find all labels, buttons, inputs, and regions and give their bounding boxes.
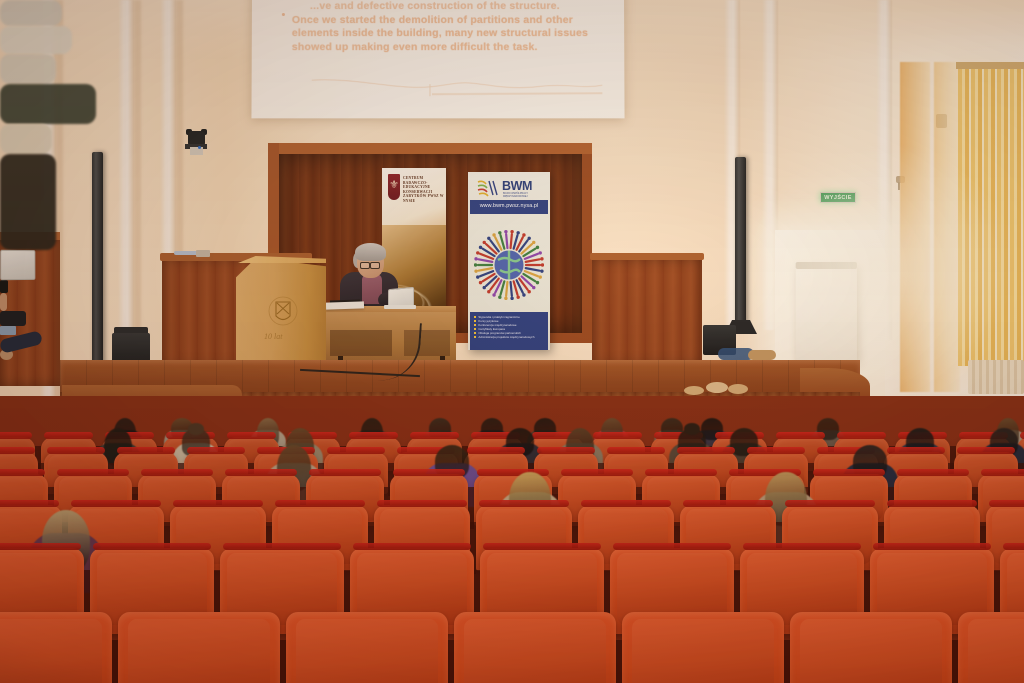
- audience-seat-cushion: [989, 500, 1024, 507]
- audience-seat-cushion: [897, 469, 969, 476]
- audience-seat[interactable]: [286, 612, 448, 683]
- audience-seat[interactable]: [958, 612, 1024, 683]
- audience-mobile-phone[interactable]: [0, 280, 8, 293]
- draped-clothing: [0, 26, 72, 54]
- audience-seat-cushion: [47, 447, 105, 454]
- audience-seat-cushion: [349, 432, 398, 439]
- audience-seat-cushion: [593, 432, 642, 439]
- audience-seat[interactable]: [0, 612, 112, 683]
- audience-person-bun: [188, 423, 203, 435]
- audience-seat-cushion: [141, 469, 213, 476]
- draped-clothing: [0, 0, 62, 26]
- audience-seat-cushion: [1020, 432, 1024, 439]
- audience-seat-cushion: [57, 469, 129, 476]
- audience-seat-cushion: [837, 432, 886, 439]
- audience-seat-cushion: [0, 447, 35, 454]
- audience-seat-cushion: [353, 543, 471, 550]
- audience-seat-cushion: [0, 500, 59, 507]
- photographer-camera[interactable]: [0, 311, 26, 326]
- audience-seat-cushion: [225, 469, 297, 476]
- audience-seat-cushion: [743, 543, 861, 550]
- audience-seat-cushion: [467, 447, 525, 454]
- audience-layer: [0, 0, 1024, 683]
- audience-seat-cushion: [813, 469, 885, 476]
- audience-seat-cushion: [393, 469, 465, 476]
- audience-person-bun: [684, 423, 699, 435]
- audience-seat-cushion: [275, 500, 365, 507]
- audience-seat[interactable]: [790, 612, 952, 683]
- photographer-camera-screen: [0, 326, 16, 335]
- audience-seat[interactable]: [622, 612, 784, 683]
- audience-seat-cushion: [683, 500, 773, 507]
- audience-seat-cushion: [887, 447, 945, 454]
- draped-clothing: [0, 54, 56, 84]
- audience-seat[interactable]: [118, 612, 280, 683]
- audience-seat-cushion: [327, 447, 385, 454]
- audience-seat-cushion: [187, 447, 245, 454]
- audience-seat-cushion: [873, 543, 991, 550]
- auditorium-photograph: ...ve and defective construction of the …: [0, 0, 1024, 683]
- audience-seat-cushion: [645, 469, 717, 476]
- audience-seat[interactable]: [454, 612, 616, 683]
- audience-seat-cushion: [677, 447, 735, 454]
- draped-clothing: [0, 124, 52, 154]
- audience-seat-cushion: [483, 543, 601, 550]
- audience-seat-cushion: [377, 500, 467, 507]
- audience-seat-cushion: [0, 469, 45, 476]
- audience-seat-cushion: [0, 432, 32, 439]
- audience-seat-cushion: [581, 500, 671, 507]
- audience-seat-cushion: [223, 543, 341, 550]
- audience-seat-cushion: [0, 543, 81, 550]
- audience-seat-cushion: [957, 447, 1015, 454]
- audience-laptop[interactable]: [0, 250, 35, 280]
- audience-seat-cushion: [537, 447, 595, 454]
- audience-seat-cushion: [44, 432, 93, 439]
- audience-seat-cushion: [410, 432, 459, 439]
- audience-seat-cushion: [479, 500, 569, 507]
- audience-seat-cushion: [173, 500, 263, 507]
- audience-seat-cushion: [227, 432, 276, 439]
- audience-seat-cushion: [981, 469, 1024, 476]
- audience-seat-cushion: [747, 447, 805, 454]
- audience-seat-cushion: [93, 543, 211, 550]
- audience-raised-arm: [0, 293, 7, 311]
- audience-seat-cushion: [1003, 543, 1024, 550]
- draped-coat: [0, 154, 56, 250]
- draped-coat: [0, 84, 96, 124]
- audience-seat-cushion: [117, 447, 175, 454]
- audience-seat-cushion: [309, 469, 381, 476]
- audience-seat-cushion: [561, 469, 633, 476]
- audience-seat-cushion: [887, 500, 977, 507]
- audience-seat-cushion: [613, 543, 731, 550]
- audience-seat-cushion: [607, 447, 665, 454]
- audience-seat-cushion: [785, 500, 875, 507]
- audience-seat-cushion: [71, 500, 161, 507]
- audience-seat-cushion: [776, 432, 825, 439]
